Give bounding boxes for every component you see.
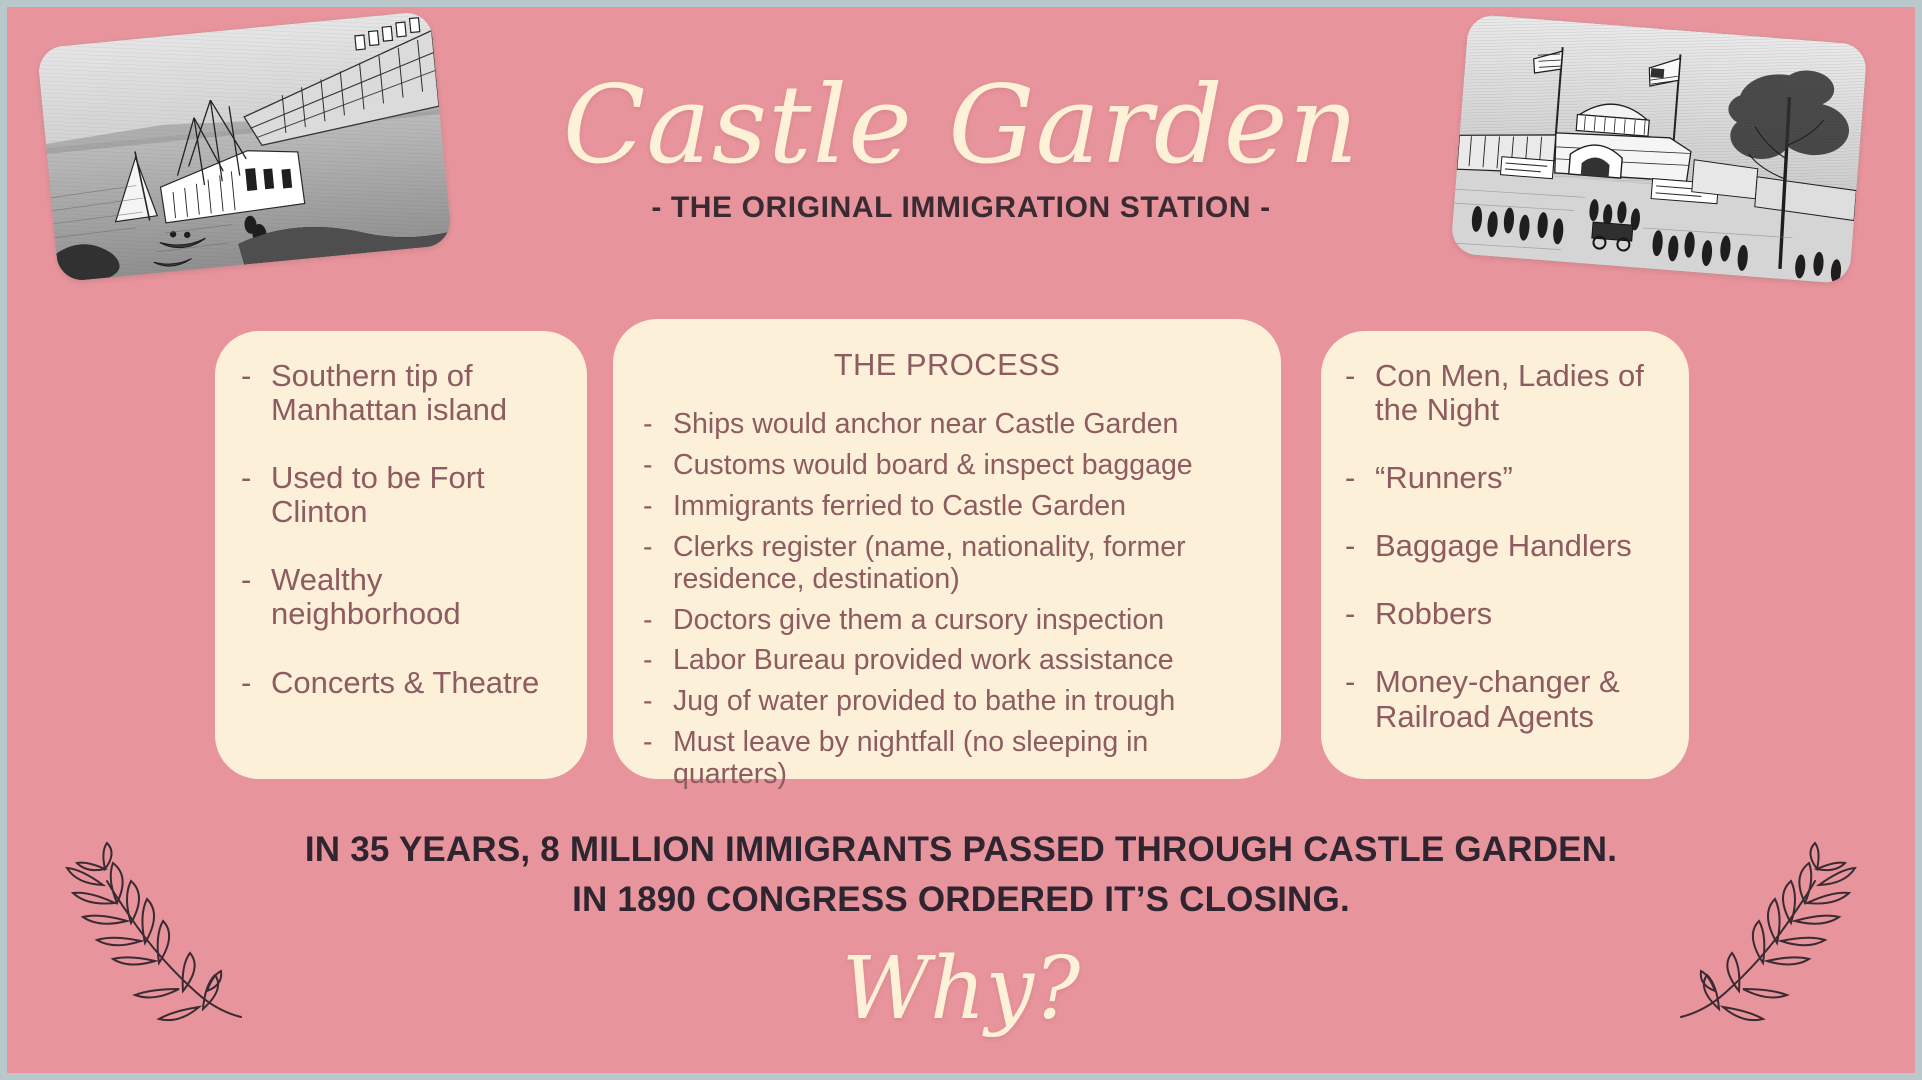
list-item: - Wealthy neighborhood <box>241 563 561 631</box>
list-item-label: Ships would anchor near Castle Garden <box>673 409 1251 441</box>
list-item: - Jug of water provided to bathe in trou… <box>643 686 1251 718</box>
card-heading-process: THE PROCESS <box>643 347 1251 383</box>
title-block: Castle Garden - THE ORIGINAL IMMIGRATION… <box>7 71 1915 225</box>
list-item: - Baggage Handlers <box>1345 529 1667 563</box>
list-item-label: Immigrants ferried to Castle Garden <box>673 491 1251 523</box>
why-question: Why? <box>7 939 1915 1039</box>
list-item: - Concerts & Theatre <box>241 666 561 700</box>
slide-canvas: Castle Garden - THE ORIGINAL IMMIGRATION… <box>0 0 1922 1080</box>
list-item-label: “Runners” <box>1375 461 1667 495</box>
bullet-dash: - <box>1345 529 1375 563</box>
list-item: - “Runners” <box>1345 461 1667 495</box>
list-item: - Used to be Fort Clinton <box>241 461 561 529</box>
statement-line-1: IN 35 YEARS, 8 MILLION IMMIGRANTS PASSED… <box>7 825 1915 875</box>
laurel-branch-left-icon <box>55 841 255 1051</box>
bullet-dash: - <box>643 605 673 637</box>
bullet-dash: - <box>643 491 673 523</box>
list-item: - Con Men, Ladies of the Night <box>1345 359 1667 427</box>
bullet-dash: - <box>643 450 673 482</box>
bullet-dash: - <box>643 727 673 759</box>
bullet-dash: - <box>643 532 673 564</box>
list-item: - Customs would board & inspect baggage <box>643 450 1251 482</box>
list-item: - Ships would anchor near Castle Garden <box>643 409 1251 441</box>
list-item-label: Southern tip of Manhattan island <box>271 359 561 427</box>
list-item: - Doctors give them a cursory inspection <box>643 605 1251 637</box>
list-item-label: Customs would board & inspect baggage <box>673 450 1251 482</box>
bullet-dash: - <box>241 666 271 700</box>
bullet-dash: - <box>643 409 673 441</box>
dangers-list: - Con Men, Ladies of the Night - “Runner… <box>1345 359 1667 734</box>
card-the-process: THE PROCESS - Ships would anchor near Ca… <box>613 319 1281 779</box>
location-facts-list: - Southern tip of Manhattan island - Use… <box>241 359 561 700</box>
list-item-label: Robbers <box>1375 597 1667 631</box>
bullet-dash: - <box>241 461 271 495</box>
bullet-dash: - <box>241 563 271 597</box>
list-item-label: Money-changer & Railroad Agents <box>1375 665 1667 733</box>
list-item-label: Doctors give them a cursory inspection <box>673 605 1251 637</box>
process-list: - Ships would anchor near Castle Garden … <box>643 409 1251 791</box>
card-dangers: - Con Men, Ladies of the Night - “Runner… <box>1321 331 1689 779</box>
page-subtitle: - THE ORIGINAL IMMIGRATION STATION - <box>7 191 1915 225</box>
list-item: - Must leave by nightfall (no sleeping i… <box>643 727 1251 791</box>
page-title: Castle Garden <box>7 71 1915 181</box>
list-item-label: Clerks register (name, nationality, form… <box>673 532 1251 596</box>
list-item-label: Must leave by nightfall (no sleeping in … <box>673 727 1251 791</box>
laurel-branch-right-icon <box>1667 841 1867 1051</box>
list-item: - Immigrants ferried to Castle Garden <box>643 491 1251 523</box>
list-item-label: Con Men, Ladies of the Night <box>1375 359 1667 427</box>
list-item-label: Wealthy neighborhood <box>271 563 561 631</box>
list-item: - Clerks register (name, nationality, fo… <box>643 532 1251 596</box>
list-item: - Southern tip of Manhattan island <box>241 359 561 427</box>
list-item: - Money-changer & Railroad Agents <box>1345 665 1667 733</box>
list-item-label: Used to be Fort Clinton <box>271 461 561 529</box>
statement-line-2: IN 1890 CONGRESS ORDERED IT’S CLOSING. <box>7 875 1915 925</box>
list-item: - Labor Bureau provided work assistance <box>643 645 1251 677</box>
list-item-label: Labor Bureau provided work assistance <box>673 645 1251 677</box>
list-item-label: Jug of water provided to bathe in trough <box>673 686 1251 718</box>
list-item-label: Baggage Handlers <box>1375 529 1667 563</box>
bullet-dash: - <box>1345 597 1375 631</box>
list-item-label: Concerts & Theatre <box>271 666 561 700</box>
bullet-dash: - <box>643 686 673 718</box>
closing-statement: IN 35 YEARS, 8 MILLION IMMIGRANTS PASSED… <box>7 825 1915 924</box>
list-item: - Robbers <box>1345 597 1667 631</box>
bullet-dash: - <box>241 359 271 393</box>
bullet-dash: - <box>1345 461 1375 495</box>
bullet-dash: - <box>1345 359 1375 393</box>
bullet-dash: - <box>643 645 673 677</box>
bullet-dash: - <box>1345 665 1375 699</box>
card-location-facts: - Southern tip of Manhattan island - Use… <box>215 331 587 779</box>
